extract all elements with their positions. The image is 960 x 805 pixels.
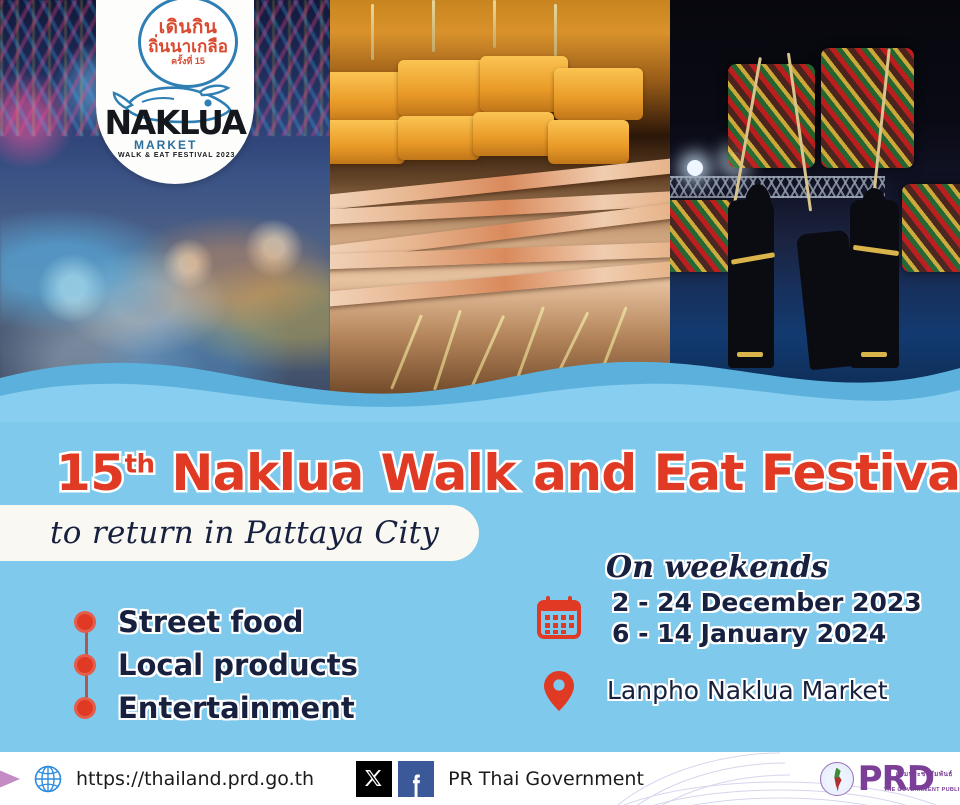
logo-subtitle: MARKET	[134, 138, 197, 152]
bullet-dot-icon	[74, 697, 96, 719]
subtitle-pill: to return in Pattaya City	[0, 505, 479, 561]
logo-tagline: WALK & EAT FESTIVAL 2023	[118, 152, 235, 159]
prd-wordmark: กรมประชาสัมพันธ์ PRD THE GOVERNMENT PUBL…	[858, 762, 934, 796]
title-rest: Naklua Walk and Eat Festival	[155, 444, 960, 502]
map-pin-icon	[543, 670, 575, 712]
list-item: Entertainment	[74, 686, 358, 729]
location-row: Lanpho Naklua Market	[530, 670, 922, 712]
x-logo-glyph	[363, 768, 385, 790]
event-info: On weekends 2 - 24 December 2023 6 -	[530, 552, 922, 712]
bullet-dot-icon	[74, 611, 96, 633]
website-url[interactable]: https://thailand.prd.go.th	[76, 768, 314, 790]
footer-bar: https://thailand.prd.go.th PR Thai Gover…	[0, 752, 960, 805]
prd-thai-name: กรมประชาสัมพันธ์	[896, 769, 953, 779]
date-row: 2 - 24 December 2023 6 - 14 January 2024	[530, 588, 922, 648]
x-twitter-icon[interactable]	[356, 761, 392, 797]
prd-seal-icon	[820, 762, 854, 796]
feature-list: Street food Local products Entertainment	[74, 600, 358, 729]
nang-yai-performance-photo	[670, 0, 960, 400]
on-weekends-heading: On weekends	[606, 552, 922, 584]
date-range-1: 2 - 24 December 2023	[612, 588, 922, 617]
grilled-seafood-photo	[330, 0, 670, 400]
calendar-icon	[536, 594, 582, 640]
logo-thai-line3: ครั้งที่ 15	[171, 57, 205, 66]
subtitle-text: to return in Pattaya City	[50, 515, 439, 551]
naklua-market-logo-badge: เดินกิน ถิ่นนาเกลือ ครั้งที่ 15 NAKLUA M…	[96, 0, 254, 184]
prd-logo: กรมประชาสัมพันธ์ PRD THE GOVERNMENT PUBL…	[820, 752, 934, 805]
facebook-icon[interactable]	[398, 761, 434, 797]
list-item: Street food	[74, 600, 358, 643]
feature-label: Street food	[118, 605, 304, 639]
facebook-logo-glyph	[403, 771, 429, 797]
festival-poster: เดินกิน ถิ่นนาเกลือ ครั้งที่ 15 NAKLUA M…	[0, 0, 960, 805]
title-ordinal: th	[125, 449, 155, 479]
date-range-2: 6 - 14 January 2024	[612, 619, 922, 648]
logo-wordmark: NAKLUA	[104, 106, 246, 139]
feature-label: Local products	[118, 648, 358, 682]
title-number: 15	[56, 444, 125, 502]
date-list: 2 - 24 December 2023 6 - 14 January 2024	[612, 588, 922, 648]
wave-divider	[0, 352, 960, 422]
globe-icon	[34, 765, 62, 793]
bullet-dot-icon	[74, 654, 96, 676]
footer-arrow-decoration	[0, 762, 20, 796]
logo-thai-line1: เดินกิน	[159, 18, 218, 37]
page-title: 15th Naklua Walk and Eat Festival	[56, 444, 960, 502]
list-item: Local products	[74, 643, 358, 686]
logo-thai-line2: ถิ่นนาเกลือ	[148, 38, 228, 55]
social-handle-label[interactable]: PR Thai Government	[448, 768, 644, 790]
location-name: Lanpho Naklua Market	[607, 676, 888, 705]
feature-label: Entertainment	[118, 691, 355, 725]
prd-english-name: THE GOVERNMENT PUBLIC RELATIONS DEPARTME…	[884, 787, 960, 793]
